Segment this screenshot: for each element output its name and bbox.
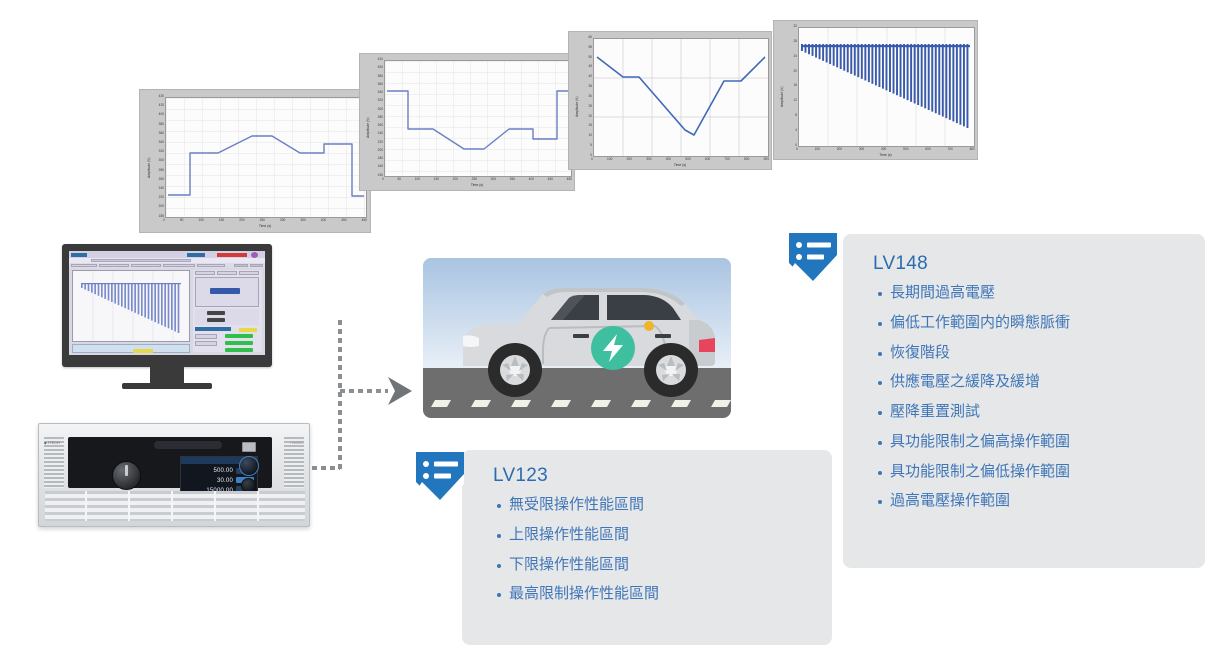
temp-high-value — [207, 311, 225, 315]
chart-x-ticks: 0100 200300 400500 600700 800 — [796, 148, 975, 151]
bullet-icon — [878, 471, 882, 475]
chart-plot-area — [384, 60, 572, 177]
status-led-2 — [225, 341, 253, 345]
bullet-icon — [878, 381, 882, 385]
chart-y-axis-label: Amplitude (V) — [781, 86, 784, 107]
connector-vertical — [338, 320, 342, 470]
bullet-icon — [497, 593, 501, 597]
chart-thumbnail-overvoltage-profile: 430420 400380 360340 320300 280260 24022… — [139, 89, 371, 233]
list-item: 偏低工作範圍内的瞬態脈衝 — [878, 315, 1188, 331]
bullet-icon — [878, 352, 882, 356]
brand-logo: ◆ ITECH — [44, 441, 60, 445]
list-item: 恢復階段 — [878, 345, 1188, 361]
section-header-bar — [195, 327, 231, 331]
list-item: 下限操作性能區間 — [497, 557, 817, 573]
chart-x-axis-label: Time (s) — [593, 164, 767, 167]
lcd-current-value: 30.00 — [217, 478, 233, 484]
spec-list-lv123: 無受限操作性能區間 上限操作性能區間 下限操作性能區間 最高限制操作性能區間 — [497, 497, 817, 616]
model-label: IT6000C — [290, 441, 304, 445]
app-badge-icon — [251, 252, 258, 258]
chart-x-axis-label: Time (s) — [165, 225, 365, 228]
list-item: 具功能限制之偏低操作範圍 — [878, 464, 1188, 480]
checklist-check-icon — [412, 448, 468, 510]
temperature-readout-box — [195, 309, 259, 325]
title-link — [187, 253, 205, 257]
tab-1[interactable] — [71, 264, 97, 268]
control-tab-2[interactable] — [217, 271, 237, 275]
connector-from-power-supply — [312, 466, 340, 470]
power-supply-faceplate: 500.00 30.00 15000.00 — [68, 437, 272, 488]
bullet-icon — [878, 441, 882, 445]
chart-x-axis-label: Time (s) — [798, 154, 973, 157]
chart-x-ticks: 050 100150 200250 300350 400450 450 — [163, 219, 367, 222]
temp-low-value — [207, 318, 225, 322]
chart-y-axis-label: Amplitude (V) — [367, 117, 370, 138]
warning-badge — [239, 328, 257, 332]
title-logo — [71, 253, 87, 257]
status-led-3 — [225, 348, 253, 352]
software-tab-row — [69, 263, 265, 268]
software-plot-svg — [73, 271, 189, 341]
tab-5[interactable] — [197, 264, 225, 268]
chart-y-axis-label: Amplitude (V) — [576, 96, 579, 117]
voltage-readout-box — [195, 277, 259, 307]
list-item: 上限操作性能區間 — [497, 527, 817, 543]
chart-y-ticks: 420400 380360 340320 300280 260240 22020… — [369, 58, 383, 177]
chart-y-ticks: 430420 400380 360340 320300 280260 24022… — [150, 95, 164, 218]
control-tab-1[interactable] — [195, 271, 215, 275]
chart-y-ticks: 6055 5045 4035 3025 2015 105 0 — [578, 36, 592, 157]
lcd-voltage-value: 500.00 — [213, 468, 233, 474]
chart-trace-svg — [385, 61, 571, 176]
monitor-screen — [69, 251, 265, 355]
chart-trace-svg — [166, 98, 366, 217]
connector-to-car — [340, 389, 388, 393]
chart-plot-area — [165, 97, 367, 218]
bullet-icon — [497, 564, 501, 568]
bullet-icon — [878, 292, 882, 296]
bullet-icon — [497, 504, 501, 508]
main-encoder-knob[interactable] — [239, 456, 259, 476]
spec-title-lv123: LV123 — [493, 466, 548, 485]
monitor-bezel — [62, 244, 272, 367]
tab-6[interactable] — [234, 264, 248, 268]
rotary-dial[interactable] — [112, 461, 141, 490]
voltage-value — [210, 288, 240, 294]
software-title-bar — [69, 251, 265, 258]
list-item: 具功能限制之偏高操作範圍 — [878, 434, 1188, 450]
electric-vehicle-illustration — [423, 258, 731, 418]
chart-x-ticks: 050 100150 200250 300350 400450 450 — [382, 178, 572, 181]
chart-thumbnail-undervoltage-profile: 420400 380360 340320 300280 260240 22020… — [359, 53, 575, 191]
software-plot-pane — [72, 270, 190, 342]
programmable-dc-power-supply: ◆ ITECH IT6000C 500.00 30.00 15000.00 — [38, 423, 310, 527]
bullet-icon — [878, 322, 882, 326]
bullet-icon — [497, 534, 501, 538]
control-tab-3[interactable] — [239, 271, 259, 275]
checklist-check-icon — [785, 229, 841, 291]
chart-thumbnail-pulse-decay: 3228 2420 1612 84 0 0100 200300 400500 6… — [773, 20, 978, 160]
front-grille — [45, 491, 305, 521]
input-field-1[interactable] — [195, 334, 217, 339]
list-item: 壓降重置測試 — [878, 404, 1188, 420]
bullet-icon — [878, 411, 882, 415]
software-note-bar — [72, 344, 190, 353]
car-scene-svg — [423, 258, 731, 418]
monitor-base — [122, 383, 212, 389]
tab-7[interactable] — [250, 264, 263, 268]
chart-plot-area — [593, 38, 769, 157]
dial-pointer-icon — [125, 465, 128, 476]
note-highlight — [133, 349, 153, 353]
chart-x-axis-label: Time (s) — [384, 184, 570, 187]
spec-list-lv148: 長期間過高電壓 偏低工作範圍内的瞬態脈衝 恢復階段 供應電壓之緩降及緩增 壓降重… — [878, 285, 1188, 523]
bullet-icon — [878, 500, 882, 504]
tab-2[interactable] — [99, 264, 129, 268]
input-field-2[interactable] — [195, 341, 217, 346]
spec-title-lv148: LV148 — [873, 254, 928, 273]
product-badge — [154, 441, 222, 449]
list-item: 無受限操作性能區間 — [497, 497, 817, 513]
chart-bars-svg — [799, 28, 974, 146]
menu-items — [91, 259, 191, 262]
connector-arrowhead-icon — [386, 375, 414, 407]
chart-y-axis-label: Amplitude (V) — [148, 157, 151, 178]
usb-port[interactable] — [242, 442, 256, 452]
tab-3[interactable] — [131, 264, 161, 268]
chart-x-ticks: 0100 200300 400500 600700 800900 — [591, 158, 769, 161]
tab-4[interactable] — [163, 264, 195, 268]
list-item: 長期間過高電壓 — [878, 285, 1188, 301]
status-led-1 — [225, 334, 253, 338]
chart-y-ticks: 3228 2420 1612 84 0 — [783, 25, 797, 147]
test-software-monitor — [62, 244, 310, 389]
chart-plot-area — [798, 27, 975, 147]
list-item: 最高限制操作性能區間 — [497, 586, 817, 602]
power-supply-chassis: ◆ ITECH IT6000C 500.00 30.00 15000.00 — [38, 423, 310, 527]
status-indicator — [217, 253, 247, 257]
list-item: 供應電壓之緩降及緩增 — [878, 374, 1188, 390]
chart-thumbnail-ramp-down-up: 6055 5045 4035 3025 2015 105 0 0100 2003… — [568, 31, 772, 170]
chart-trace-svg — [594, 39, 768, 156]
software-control-pane — [193, 270, 262, 352]
list-item: 過高電壓操作範圍 — [878, 493, 1188, 509]
